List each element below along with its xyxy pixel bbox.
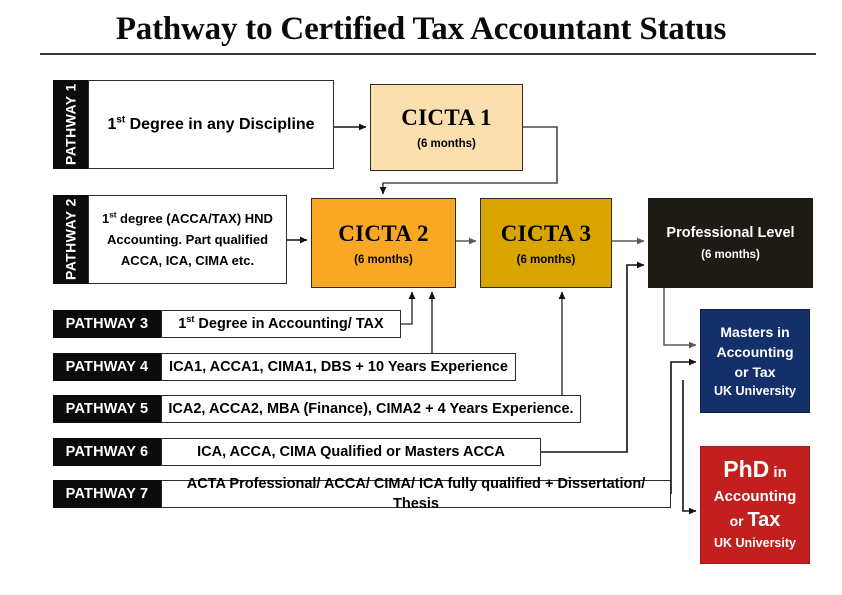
outcome-phd-line-3: or Tax bbox=[730, 508, 781, 533]
outcome-phd-line-1: PhD in bbox=[723, 457, 787, 485]
stage-cicta-2-duration: (6 months) bbox=[354, 254, 413, 266]
pathway-4-label: PATHWAY 4 bbox=[53, 353, 161, 381]
pathway-2-label: PATHWAY 2 bbox=[53, 195, 88, 284]
pathway-4-label-text: PATHWAY 4 bbox=[66, 359, 149, 375]
pathway-6-requirement: ICA, ACCA, CIMA Qualified or Masters ACC… bbox=[161, 438, 541, 466]
outcome-phd-line-2: Accounting bbox=[714, 485, 797, 508]
stage-cicta-3: CICTA 3 (6 months) bbox=[480, 198, 612, 288]
pathway-2-requirement: 1st degree (ACCA/TAX) HND Accounting. Pa… bbox=[88, 195, 287, 284]
pathway-7-label-text: PATHWAY 7 bbox=[66, 486, 149, 502]
pathway-3-text: 1st Degree in Accounting/ TAX bbox=[178, 314, 383, 334]
pathway-1-text: 1st Degree in any Discipline bbox=[107, 115, 314, 135]
pathway-2-label-text: PATHWAY 2 bbox=[63, 199, 79, 281]
stage-cicta-3-duration: (6 months) bbox=[517, 254, 576, 266]
pathway-5-label: PATHWAY 5 bbox=[53, 395, 161, 423]
pathway-6-label: PATHWAY 6 bbox=[53, 438, 161, 466]
stage-cicta-1: CICTA 1 (6 months) bbox=[370, 84, 523, 171]
stage-professional-level-duration: (6 months) bbox=[701, 249, 760, 261]
pathway-2-line-2: Accounting. Part qualified bbox=[107, 229, 268, 250]
pathway-4-requirement: ICA1, ACCA1, CIMA1, DBS + 10 Years Exper… bbox=[161, 353, 516, 381]
pathway-1-requirement: 1st Degree in any Discipline bbox=[88, 80, 334, 169]
stage-cicta-2: CICTA 2 (6 months) bbox=[311, 198, 456, 288]
stage-cicta-3-title: CICTA 3 bbox=[501, 221, 592, 247]
pathway-3-label-text: PATHWAY 3 bbox=[66, 316, 149, 332]
pathway-1-label-text: PATHWAY 1 bbox=[63, 84, 79, 166]
stage-cicta-1-title: CICTA 1 bbox=[401, 105, 492, 131]
outcome-masters-line-4: UK University bbox=[714, 382, 796, 401]
pathway-5-requirement: ICA2, ACCA2, MBA (Finance), CIMA2 + 4 Ye… bbox=[161, 395, 581, 423]
outcome-masters-line-2: Accounting bbox=[717, 342, 794, 362]
outcome-phd: PhD in Accounting or Tax UK University bbox=[700, 446, 810, 564]
outcome-phd-line-4: UK University bbox=[714, 533, 796, 553]
title-divider bbox=[40, 53, 816, 55]
stage-professional-level-title: Professional Level bbox=[666, 225, 794, 241]
stage-cicta-2-title: CICTA 2 bbox=[338, 221, 429, 247]
pathway-2-line-3: ACCA, ICA, CIMA etc. bbox=[121, 250, 254, 271]
outcome-masters-line-1: Masters in bbox=[720, 322, 789, 342]
pathway-7-label: PATHWAY 7 bbox=[53, 480, 161, 508]
pathway-3-label: PATHWAY 3 bbox=[53, 310, 161, 338]
pathway-5-label-text: PATHWAY 5 bbox=[66, 401, 149, 417]
pathway-1-label: PATHWAY 1 bbox=[53, 80, 88, 169]
outcome-masters-line-3: or Tax bbox=[735, 362, 776, 382]
pathway-7-requirement: ACTA Professional/ ACCA/ CIMA/ ICA fully… bbox=[161, 480, 671, 508]
pathway-6-label-text: PATHWAY 6 bbox=[66, 444, 149, 460]
pathway-2-line-1: 1st degree (ACCA/TAX) HND bbox=[102, 208, 273, 229]
stage-professional-level: Professional Level (6 months) bbox=[648, 198, 813, 288]
outcome-masters: Masters in Accounting or Tax UK Universi… bbox=[700, 309, 810, 413]
stage-cicta-1-duration: (6 months) bbox=[417, 138, 476, 150]
page-title: Pathway to Certified Tax Accountant Stat… bbox=[50, 8, 792, 50]
pathway-3-requirement: 1st Degree in Accounting/ TAX bbox=[161, 310, 401, 338]
